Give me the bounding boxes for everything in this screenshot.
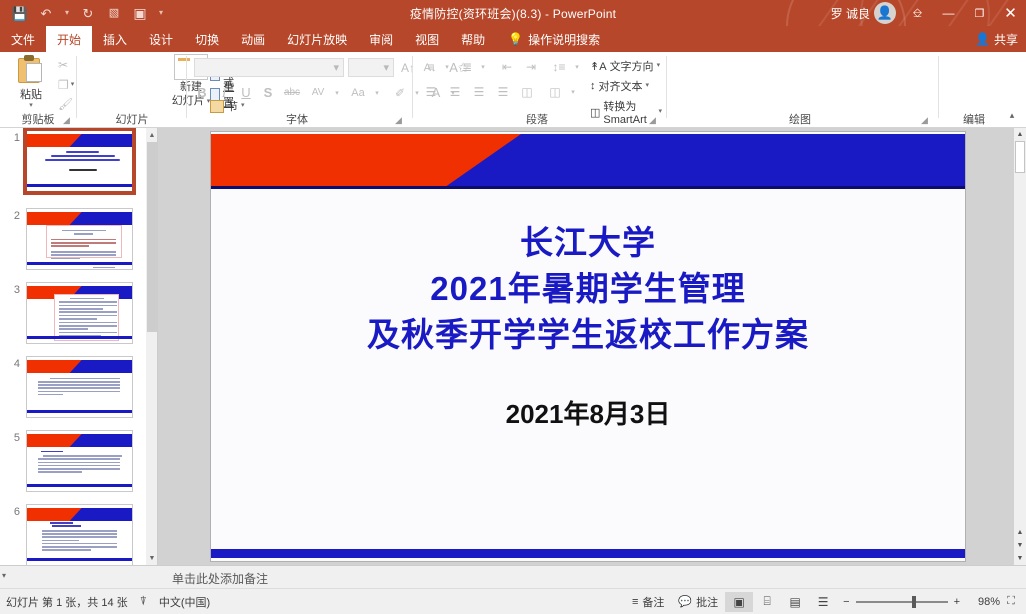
change-case-button[interactable]: Aa: [346, 83, 370, 102]
tab-file[interactable]: 文件: [0, 26, 46, 52]
format-painter-icon: 🖌: [58, 97, 73, 111]
close-button[interactable]: ✕: [995, 0, 1026, 26]
align-text-label: 对齐文本: [599, 78, 643, 94]
main-area: 1 2: [0, 128, 1026, 565]
columns-dropdown-icon[interactable]: ▾: [568, 82, 578, 101]
user-name[interactable]: 罗 诚良: [831, 5, 874, 22]
font-size-input[interactable]: ▾: [348, 58, 394, 77]
slide-show-button[interactable]: ☰: [809, 592, 837, 612]
notes-icon: ≡: [632, 596, 638, 608]
line-spacing-button[interactable]: ↕≡: [548, 57, 570, 76]
copy-icon: ❐: [58, 78, 69, 92]
align-center-button[interactable]: ☰: [444, 82, 466, 101]
line-spacing-dropdown-icon[interactable]: ▾: [572, 57, 582, 76]
status-bar: 幻灯片 第 1 张，共 14 张 ⍒ 中文(中国) ≡ 备注 💬 批注 ▣ ⌸ …: [0, 588, 1026, 614]
thumbnail-pane-scrollbar[interactable]: ▲ ▼: [146, 128, 158, 565]
tab-animations[interactable]: 动画: [230, 26, 276, 52]
collapse-ribbon-icon[interactable]: ▴: [1004, 108, 1020, 122]
zoom-handle[interactable]: [912, 596, 916, 608]
numbering-dropdown-icon[interactable]: ▾: [478, 57, 488, 76]
slide-title-line-3: 及秋季开学学生返校工作方案: [211, 312, 965, 358]
thumbnail-item-1[interactable]: 1: [0, 128, 146, 206]
justify-button[interactable]: ☰: [492, 82, 514, 101]
thumbnail-image[interactable]: [26, 504, 133, 565]
ribbon-group-paragraph: ≡ ▾ ≣ ▾ ⇤ ⇥ ↕≡ ▾ ☰ ☰ ☰ ☰ ◫ ◫ ▾ ↟A 文字方向 ▾…: [412, 52, 662, 128]
zoom-in-button[interactable]: +: [954, 596, 960, 608]
change-case-dropdown-icon[interactable]: ▾: [372, 83, 382, 102]
tab-review[interactable]: 审阅: [358, 26, 404, 52]
text-highlight-color-button[interactable]: ✐: [390, 83, 410, 102]
status-left: 幻灯片 第 1 张，共 14 张 ⍒ 中文(中国): [0, 594, 210, 610]
thumb-scroll-down-icon[interactable]: ▼: [146, 551, 158, 565]
tab-insert[interactable]: 插入: [92, 26, 138, 52]
ribbon: 粘贴 ▾ ✂ ❐ ▾ 🖌 剪贴板 ◢ 新建 幻灯片: [0, 52, 1026, 128]
tab-home[interactable]: 开始: [46, 26, 92, 52]
slide-stage: 长江大学 2021年暑期学生管理 及秋季开学学生返校工作方案 2021年8月3日: [158, 128, 1014, 565]
comments-button[interactable]: 💬 批注: [671, 591, 725, 613]
ribbon-group-slides: 新建 幻灯片 ▾ 版式 ▾ 重置 节 ▾ 幻灯片: [76, 52, 180, 128]
notes-button-label: 备注: [642, 594, 664, 610]
thumbnail-item-4[interactable]: 4: [0, 354, 146, 428]
group-label-editing: 编辑: [938, 111, 1010, 127]
text-direction-label: 文字方向: [610, 58, 654, 74]
text-direction-button[interactable]: ↟A 文字方向 ▾: [590, 58, 660, 74]
thumbnail-number: 2: [4, 210, 20, 222]
underline-button[interactable]: U: [236, 83, 256, 102]
ribbon-tabs: 文件 开始 插入 设计 切换 动画 幻灯片放映 审阅 视图 帮助 💡 操作说明搜…: [0, 26, 1026, 52]
share-person-icon: 👤: [975, 32, 990, 46]
thumbnail-item-2[interactable]: 2: [0, 206, 146, 280]
notes-placeholder[interactable]: 单击此处添加备注: [172, 570, 268, 587]
tab-transitions[interactable]: 切换: [184, 26, 230, 52]
slide-bottom-bar: [211, 549, 965, 558]
paste-button[interactable]: 粘贴 ▾: [8, 55, 54, 113]
increase-indent-button[interactable]: ⇥: [520, 57, 542, 76]
slide-date[interactable]: 2021年8月3日: [211, 394, 965, 431]
font-dialog-launcher[interactable]: ◢: [395, 115, 405, 125]
slide-title[interactable]: 长江大学 2021年暑期学生管理 及秋季开学学生返校工作方案: [211, 220, 965, 358]
restore-button[interactable]: ❐: [964, 0, 995, 26]
comment-icon: 💬: [678, 595, 692, 608]
tell-me-search[interactable]: 💡 操作说明搜索: [496, 26, 600, 52]
paste-icon: [16, 55, 46, 85]
notes-pane[interactable]: ▾ 单击此处添加备注: [0, 565, 1026, 588]
ribbon-group-font: ▾ ▾ A↑ A↓ A✩ B I U S abc AV ▾ Aa ▾ ✐ ▾ A…: [186, 52, 408, 128]
fit-to-window-button[interactable]: ⛶: [1000, 595, 1022, 608]
zoom-slider[interactable]: − +: [837, 596, 966, 608]
accessibility-icon[interactable]: ⍒: [140, 594, 147, 609]
window-controls-area: 罗 诚良 👤 ⎒ — ❐ ✕: [831, 0, 1026, 26]
group-label-font: 字体: [186, 111, 408, 127]
paste-dropdown-icon[interactable]: ▾: [29, 103, 33, 109]
ribbon-group-drawing: ▦ ▤ ╱ ╱ ━ ◯ □ △ ┃ ┆ ⇝ ⇟ ◿ ∾ ⌒ ⌡ { } ▲: [666, 52, 934, 128]
thumb-scroll-up-icon[interactable]: ▲: [146, 128, 158, 142]
columns-button[interactable]: ◫: [516, 82, 538, 101]
zoom-track[interactable]: [856, 601, 948, 603]
notes-collapse-icon[interactable]: ▾: [2, 571, 6, 580]
powerpoint-window: 💾 ↶ ▾ ↻ ▧ ▣ ▾ 疫情防控(资环班会)(8.3) - PowerPoi…: [0, 0, 1026, 614]
bold-button[interactable]: B: [192, 83, 212, 102]
align-text-icon: ↕: [590, 80, 596, 92]
stage-scroll-up-icon[interactable]: ▲: [1014, 128, 1026, 141]
bullets-dropdown-icon[interactable]: ▾: [442, 57, 452, 76]
thumbnail-number: 1: [4, 132, 20, 144]
italic-button[interactable]: I: [214, 83, 234, 102]
thumbnail-item-3[interactable]: 3: [0, 280, 146, 354]
minimize-button[interactable]: —: [933, 0, 964, 26]
avatar[interactable]: 👤: [874, 2, 896, 24]
strikethrough-button[interactable]: abc: [280, 83, 304, 102]
slide-count-label[interactable]: 幻灯片 第 1 张，共 14 张: [6, 594, 128, 610]
thumbnail-number: 4: [4, 358, 20, 370]
tab-view[interactable]: 视图: [404, 26, 450, 52]
numbering-button[interactable]: ≣: [456, 57, 478, 76]
format-painter-button[interactable]: 🖌: [58, 97, 73, 111]
thumbnail-item-5[interactable]: 5: [0, 428, 146, 502]
paste-label: 粘贴: [20, 86, 42, 102]
text-direction-dropdown-icon[interactable]: ▾: [657, 63, 661, 69]
thumbnail-number: 6: [4, 506, 20, 518]
tell-me-label: 操作说明搜索: [528, 31, 600, 48]
paragraph-dialog-launcher[interactable]: ◢: [649, 115, 659, 125]
zoom-level-label[interactable]: 98%: [966, 596, 1000, 608]
tab-slideshow[interactable]: 幻灯片放映: [276, 26, 358, 52]
text-direction-alt-button[interactable]: ◫: [544, 82, 566, 101]
thumbnail-image[interactable]: [26, 430, 133, 492]
copy-button[interactable]: ❐ ▾: [58, 78, 74, 92]
lightbulb-icon: 💡: [508, 32, 523, 46]
text-direction-icon: ↟A: [590, 60, 607, 73]
stage-scroll-handle[interactable]: [1015, 141, 1025, 173]
align-text-dropdown-icon[interactable]: ▾: [646, 83, 650, 89]
bullets-button[interactable]: ≡: [420, 57, 442, 76]
previous-slide-icon[interactable]: ▲: [1014, 526, 1026, 539]
scissors-icon: ✂: [58, 58, 68, 72]
slide-title-line-2: 2021年暑期学生管理: [211, 266, 965, 312]
character-spacing-dropdown-icon[interactable]: ▾: [332, 83, 342, 102]
language-label[interactable]: 中文(中国): [159, 594, 210, 610]
normal-view-button[interactable]: ▣: [725, 592, 753, 612]
slide-title-line-1: 长江大学: [211, 220, 965, 266]
text-shadow-button[interactable]: S: [258, 83, 278, 102]
align-left-button[interactable]: ☰: [420, 82, 442, 101]
comments-button-label: 批注: [696, 594, 718, 610]
thumbnail-image[interactable]: [26, 282, 133, 344]
thumbnail-image[interactable]: [26, 130, 133, 192]
tab-design[interactable]: 设计: [138, 26, 184, 52]
thumbnail-number: 5: [4, 432, 20, 444]
copy-dropdown-icon[interactable]: ▾: [71, 82, 75, 88]
slide-pane-scrollbar[interactable]: ▲ ▲ ▼ ▼: [1014, 128, 1026, 565]
stage-scroll-down-icon[interactable]: ▼: [1014, 552, 1026, 565]
zoom-out-button[interactable]: −: [843, 596, 849, 608]
drawing-dialog-launcher[interactable]: ◢: [921, 115, 931, 125]
font-name-input[interactable]: ▾: [194, 58, 344, 77]
next-slide-icon[interactable]: ▼: [1014, 539, 1026, 552]
thumb-scroll-handle[interactable]: [147, 142, 157, 332]
ribbon-group-editing: 🔍 查找 ab⇄ 替换 ▾ ➜ 选择 ▾ 编辑: [938, 52, 1010, 128]
tab-help[interactable]: 帮助: [450, 26, 496, 52]
decrease-indent-button[interactable]: ⇤: [496, 57, 518, 76]
group-label-drawing: 绘图: [666, 111, 934, 127]
thumbnail-number: 3: [4, 284, 20, 296]
align-right-button[interactable]: ☰: [468, 82, 490, 101]
character-spacing-button[interactable]: AV: [306, 83, 330, 102]
slide-thumbnail-pane[interactable]: 1 2: [0, 128, 146, 565]
slide-sorter-view-button[interactable]: ⌸: [753, 592, 781, 612]
share-button[interactable]: 👤 共享: [975, 26, 1018, 52]
align-text-button[interactable]: ↕ 对齐文本 ▾: [590, 78, 649, 94]
thumbnail-image[interactable]: [26, 208, 133, 270]
thumbnail-image[interactable]: [26, 356, 133, 418]
cut-button[interactable]: ✂: [58, 58, 68, 72]
group-label-paragraph: 段落: [412, 111, 662, 127]
thumbnail-item-6[interactable]: 6: [0, 502, 146, 565]
slide-banner-shadow: [211, 186, 965, 189]
status-right: ≡ 备注 💬 批注 ▣ ⌸ ▤ ☰ − + 98% ⛶: [625, 591, 1022, 613]
reading-view-button[interactable]: ▤: [781, 592, 809, 612]
share-label: 共享: [994, 31, 1018, 48]
notes-button[interactable]: ≡ 备注: [625, 591, 671, 613]
title-bar: 💾 ↶ ▾ ↻ ▧ ▣ ▾ 疫情防控(资环班会)(8.3) - PowerPoi…: [0, 0, 1026, 26]
current-slide[interactable]: 长江大学 2021年暑期学生管理 及秋季开学学生返校工作方案 2021年8月3日: [210, 131, 966, 562]
ribbon-display-options-icon[interactable]: ⎒: [902, 0, 933, 26]
